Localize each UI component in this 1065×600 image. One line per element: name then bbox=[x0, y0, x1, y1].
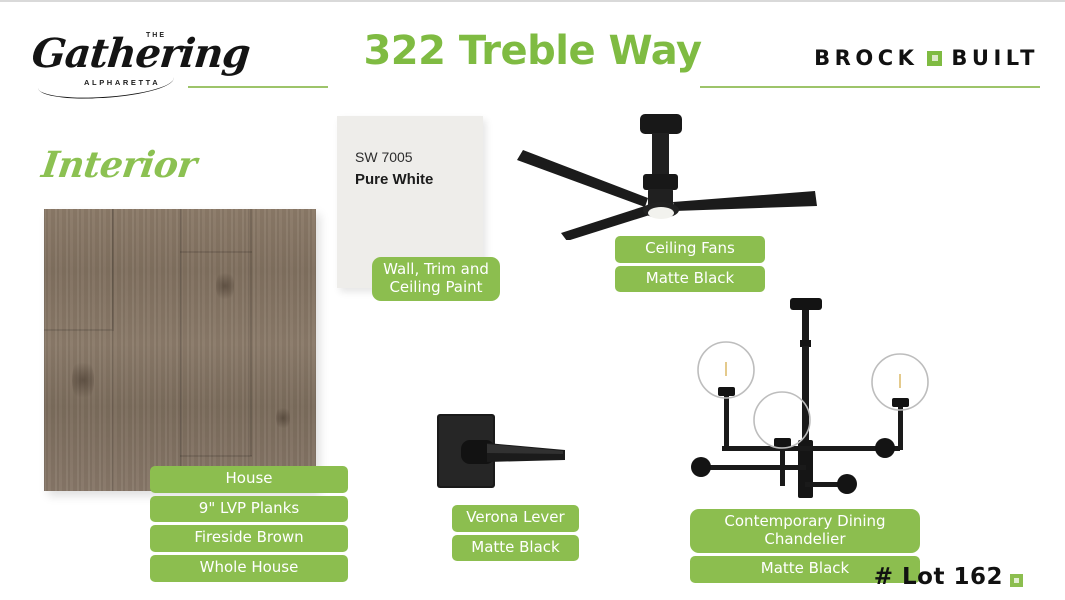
paint-usage-label: Wall, Trim and Ceiling Paint bbox=[372, 257, 500, 301]
header-rule-right bbox=[700, 86, 1040, 88]
chandelier-label-0: Contemporary Dining Chandelier bbox=[690, 509, 920, 553]
lot-number: # Lot 162 bbox=[874, 564, 1023, 590]
header-rule-left bbox=[188, 86, 328, 88]
ceiling-fan-icon bbox=[515, 110, 835, 240]
logo-subtext: ALPHARETTA bbox=[84, 78, 160, 87]
built-word: BUILT bbox=[951, 46, 1039, 70]
flooring-swatch bbox=[44, 209, 316, 491]
door-lever-label-group: Verona Lever Matte Black bbox=[452, 505, 579, 561]
door-lever-icon bbox=[425, 400, 595, 505]
flooring-label-group: House 9" LVP Planks Fireside Brown Whole… bbox=[150, 466, 348, 582]
door-lever-label-0: Verona Lever bbox=[452, 505, 579, 532]
selections-board: THE Gathering ALPHARETTA 322 Treble Way … bbox=[0, 2, 1065, 600]
chandelier-image bbox=[672, 290, 937, 515]
flooring-label-2: Fireside Brown bbox=[150, 525, 348, 552]
door-lever-label-1: Matte Black bbox=[452, 535, 579, 562]
section-heading-interior: Interior bbox=[39, 144, 199, 186]
paint-name: Pure White bbox=[355, 171, 433, 188]
brock-built-logo: BROCK BUILT bbox=[814, 46, 1039, 70]
paint-label-group: Wall, Trim and Ceiling Paint bbox=[372, 257, 500, 301]
lot-number-text: # Lot 162 bbox=[874, 564, 1003, 590]
flooring-label-3: Whole House bbox=[150, 555, 348, 582]
chandelier-icon bbox=[672, 290, 937, 515]
ceiling-fan-image bbox=[515, 110, 835, 240]
ceiling-fan-label-group: Ceiling Fans Matte Black bbox=[615, 236, 765, 292]
paint-code: SW 7005 bbox=[355, 149, 413, 165]
green-square-icon bbox=[1010, 574, 1023, 587]
ceiling-fan-label-1: Matte Black bbox=[615, 266, 765, 293]
green-square-icon bbox=[927, 51, 942, 66]
flooring-label-0: House bbox=[150, 466, 348, 493]
door-lever-image bbox=[425, 400, 595, 505]
brock-word: BROCK bbox=[814, 46, 918, 70]
flooring-label-1: 9" LVP Planks bbox=[150, 496, 348, 523]
ceiling-fan-label-0: Ceiling Fans bbox=[615, 236, 765, 263]
